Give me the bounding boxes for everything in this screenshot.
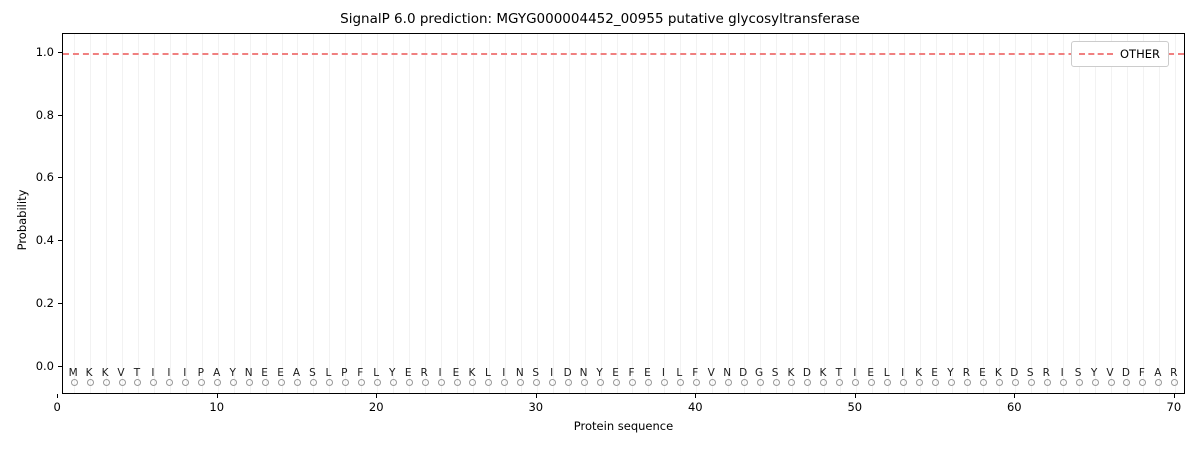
x-tick-label: 60 [1007, 400, 1022, 414]
gridline [999, 34, 1000, 393]
gridline [664, 34, 665, 393]
gridline [457, 34, 458, 393]
sequence-marker [788, 379, 795, 386]
sequence-marker [900, 379, 907, 386]
gridline [313, 34, 314, 393]
sequence-marker [725, 379, 732, 386]
residue-label: P [198, 368, 204, 379]
gridline [521, 34, 522, 393]
residue-label: K [819, 368, 826, 379]
residue-label: R [1043, 368, 1050, 379]
y-tick-label: 1.0 [36, 45, 54, 59]
x-tick-label: 10 [209, 400, 224, 414]
gridline [569, 34, 570, 393]
residue-label: E [453, 368, 460, 379]
residue-label: E [612, 368, 619, 379]
residue-label: I [662, 368, 665, 379]
gridline [377, 34, 378, 393]
sequence-marker [342, 379, 349, 386]
y-tick-label: 0.4 [36, 233, 54, 247]
gridline [218, 34, 219, 393]
sequence-marker [119, 379, 126, 386]
residue-label: I [550, 368, 553, 379]
residue-label: E [277, 368, 284, 379]
gridline [74, 34, 75, 393]
sequence-marker [693, 379, 700, 386]
x-tick-label: 0 [54, 400, 61, 414]
gridline [266, 34, 267, 393]
residue-label: F [692, 368, 698, 379]
y-tick-mark [58, 303, 62, 304]
residue-label: D [564, 368, 572, 379]
y-tick-mark [58, 52, 62, 53]
y-tick-mark [58, 366, 62, 367]
gridline [409, 34, 410, 393]
sequence-marker [501, 379, 508, 386]
residue-label: D [803, 368, 811, 379]
residue-label: Y [947, 368, 953, 379]
residue-label: K [469, 368, 476, 379]
gridline [585, 34, 586, 393]
gridline [936, 34, 937, 393]
residue-label: E [931, 368, 938, 379]
sequence-marker [884, 379, 891, 386]
sequence-marker [438, 379, 445, 386]
residue-label: V [117, 368, 124, 379]
sequence-marker [773, 379, 780, 386]
sequence-marker [1092, 379, 1099, 386]
y-tick-mark [58, 177, 62, 178]
gridline [1079, 34, 1080, 393]
gridline [170, 34, 171, 393]
x-tick-mark [1174, 394, 1175, 398]
gridline [920, 34, 921, 393]
sequence-marker [326, 379, 333, 386]
x-tick-mark [217, 394, 218, 398]
gridline [122, 34, 123, 393]
sequence-marker [406, 379, 413, 386]
residue-label: L [485, 368, 491, 379]
residue-label: F [628, 368, 634, 379]
gridline [297, 34, 298, 393]
sequence-marker [565, 379, 572, 386]
residue-label: L [325, 368, 331, 379]
sequence-marker [1012, 379, 1019, 386]
sequence-marker [103, 379, 110, 386]
sequence-marker [661, 379, 668, 386]
residue-label: S [1075, 368, 1082, 379]
gridline [138, 34, 139, 393]
residue-label: I [901, 368, 904, 379]
residue-label: V [1106, 368, 1113, 379]
y-tick-label: 0.0 [36, 359, 54, 373]
gridline [1047, 34, 1048, 393]
residue-label: I [1061, 368, 1064, 379]
sequence-marker [390, 379, 397, 386]
residue-label: I [853, 368, 856, 379]
residue-label: V [708, 368, 715, 379]
sequence-marker [517, 379, 524, 386]
sequence-marker [1044, 379, 1051, 386]
gridline [808, 34, 809, 393]
sequence-marker [1108, 379, 1115, 386]
residue-label: R [1170, 368, 1177, 379]
sequence-marker [741, 379, 748, 386]
residue-label: K [86, 368, 93, 379]
gridline [648, 34, 649, 393]
gridline [856, 34, 857, 393]
sequence-marker [422, 379, 429, 386]
gridline [250, 34, 251, 393]
sequence-marker [278, 379, 285, 386]
gridline [1015, 34, 1016, 393]
sequence-marker [996, 379, 1003, 386]
residue-label: D [739, 368, 747, 379]
gridline [1127, 34, 1128, 393]
sequence-marker [597, 379, 604, 386]
gridline [1063, 34, 1064, 393]
residue-label: K [102, 368, 109, 379]
y-tick-label: 0.8 [36, 108, 54, 122]
residue-label: D [1010, 368, 1018, 379]
other-probability-line [63, 53, 1184, 55]
residue-label: N [245, 368, 253, 379]
sequence-marker [709, 379, 716, 386]
sequence-marker [1028, 379, 1035, 386]
legend-label-other: OTHER [1120, 47, 1160, 61]
gridline [760, 34, 761, 393]
residue-label: S [1027, 368, 1034, 379]
plot-area [62, 33, 1185, 394]
residue-label: L [373, 368, 379, 379]
gridline [904, 34, 905, 393]
x-axis-label: Protein sequence [62, 419, 1185, 433]
residue-label: Y [1091, 368, 1097, 379]
gridline [1095, 34, 1096, 393]
residue-label: I [151, 368, 154, 379]
sequence-marker [454, 379, 461, 386]
residue-label: K [788, 368, 795, 379]
sequence-marker [1139, 379, 1146, 386]
residue-label: R [963, 368, 970, 379]
residue-label: S [772, 368, 779, 379]
gridline [840, 34, 841, 393]
residue-label: N [723, 368, 731, 379]
gridline [1143, 34, 1144, 393]
sequence-marker [358, 379, 365, 386]
gridline [537, 34, 538, 393]
residue-label: F [357, 368, 363, 379]
gridline [154, 34, 155, 393]
gridline [967, 34, 968, 393]
sequence-marker [868, 379, 875, 386]
residue-label: M [69, 368, 78, 379]
sequence-marker [964, 379, 971, 386]
gridline [728, 34, 729, 393]
gridline [202, 34, 203, 393]
gridline [1175, 34, 1176, 393]
signalp-prediction-figure: SignalP 6.0 prediction: MGYG000004452_00… [0, 0, 1200, 450]
sequence-marker [677, 379, 684, 386]
sequence-marker [71, 379, 78, 386]
x-tick-mark [536, 394, 537, 398]
gridline [489, 34, 490, 393]
gridline [952, 34, 953, 393]
sequence-marker [549, 379, 556, 386]
residue-label: Y [596, 368, 602, 379]
residue-label: E [979, 368, 986, 379]
residue-label: F [1139, 368, 1145, 379]
gridline [90, 34, 91, 393]
residue-label: I [502, 368, 505, 379]
residue-label: N [516, 368, 524, 379]
gridline [505, 34, 506, 393]
residue-label: A [293, 368, 300, 379]
gridline [1111, 34, 1112, 393]
sequence-marker [310, 379, 317, 386]
gridline [680, 34, 681, 393]
sequence-marker [613, 379, 620, 386]
x-tick-mark [376, 394, 377, 398]
legend-line-other [1079, 53, 1113, 55]
y-tick-label: 0.6 [36, 170, 54, 184]
residue-label: E [867, 368, 874, 379]
sequence-marker [836, 379, 843, 386]
x-tick-mark [57, 394, 58, 398]
y-tick-label: 0.2 [36, 296, 54, 310]
gridline [617, 34, 618, 393]
x-tick-mark [695, 394, 696, 398]
sequence-marker [1060, 379, 1067, 386]
sequence-marker [757, 379, 764, 386]
residue-label: L [676, 368, 682, 379]
residue-label: E [644, 368, 651, 379]
residue-label: I [183, 368, 186, 379]
gridline [329, 34, 330, 393]
gridline [696, 34, 697, 393]
x-tick-mark [1014, 394, 1015, 398]
gridline [282, 34, 283, 393]
gridline [712, 34, 713, 393]
gridline [393, 34, 394, 393]
residue-label: I [167, 368, 170, 379]
sequence-marker [932, 379, 939, 386]
sequence-marker [469, 379, 476, 386]
sequence-marker [980, 379, 987, 386]
gridline [441, 34, 442, 393]
sequence-marker [374, 379, 381, 386]
legend: OTHER [1071, 41, 1169, 67]
gridline [345, 34, 346, 393]
residue-label: A [213, 368, 220, 379]
residue-label: R [420, 368, 427, 379]
residue-label: G [755, 368, 763, 379]
sequence-marker [198, 379, 205, 386]
sequence-marker [150, 379, 157, 386]
gridline [473, 34, 474, 393]
sequence-marker [214, 379, 221, 386]
sequence-marker [1123, 379, 1130, 386]
residue-label: Y [229, 368, 235, 379]
residue-label: S [532, 368, 539, 379]
y-tick-mark [58, 240, 62, 241]
gridline [601, 34, 602, 393]
gridline [872, 34, 873, 393]
residue-label: S [309, 368, 316, 379]
sequence-marker [246, 379, 253, 386]
sequence-marker [852, 379, 859, 386]
gridline [1031, 34, 1032, 393]
gridline [744, 34, 745, 393]
gridline [776, 34, 777, 393]
residue-label: D [1122, 368, 1130, 379]
gridline [553, 34, 554, 393]
residue-label: K [915, 368, 922, 379]
sequence-marker [485, 379, 492, 386]
page-title: SignalP 6.0 prediction: MGYG000004452_00… [0, 11, 1200, 27]
y-tick-mark [58, 115, 62, 116]
sequence-marker [820, 379, 827, 386]
residue-label: K [995, 368, 1002, 379]
sequence-marker [182, 379, 189, 386]
x-tick-label: 70 [1167, 400, 1182, 414]
gridline [632, 34, 633, 393]
sequence-marker [262, 379, 269, 386]
sequence-marker [134, 379, 141, 386]
gridline [186, 34, 187, 393]
sequence-marker [166, 379, 173, 386]
sequence-marker [230, 379, 237, 386]
sequence-marker [916, 379, 923, 386]
gridline [1159, 34, 1160, 393]
gridline [106, 34, 107, 393]
gridline [425, 34, 426, 393]
gridline [824, 34, 825, 393]
residue-label: A [1154, 368, 1161, 379]
x-tick-label: 30 [528, 400, 543, 414]
gridline [234, 34, 235, 393]
sequence-marker [1171, 379, 1178, 386]
residue-label: E [261, 368, 268, 379]
sequence-marker [1076, 379, 1083, 386]
sequence-marker [1155, 379, 1162, 386]
residue-label: I [438, 368, 441, 379]
sequence-marker [629, 379, 636, 386]
sequence-marker [581, 379, 588, 386]
residue-label: T [134, 368, 140, 379]
x-tick-label: 50 [847, 400, 862, 414]
sequence-marker [294, 379, 301, 386]
residue-label: Y [389, 368, 395, 379]
gridline [983, 34, 984, 393]
x-tick-label: 40 [688, 400, 703, 414]
residue-label: N [580, 368, 588, 379]
residue-label: P [341, 368, 347, 379]
x-tick-label: 20 [369, 400, 384, 414]
residue-label: L [884, 368, 890, 379]
residue-label: T [836, 368, 842, 379]
sequence-marker [533, 379, 540, 386]
sequence-marker [948, 379, 955, 386]
sequence-marker [87, 379, 94, 386]
residue-label: E [405, 368, 412, 379]
sequence-marker [645, 379, 652, 386]
gridline [792, 34, 793, 393]
y-axis-label: Probability [15, 160, 29, 280]
gridline [361, 34, 362, 393]
sequence-marker [804, 379, 811, 386]
gridline [888, 34, 889, 393]
x-tick-mark [855, 394, 856, 398]
